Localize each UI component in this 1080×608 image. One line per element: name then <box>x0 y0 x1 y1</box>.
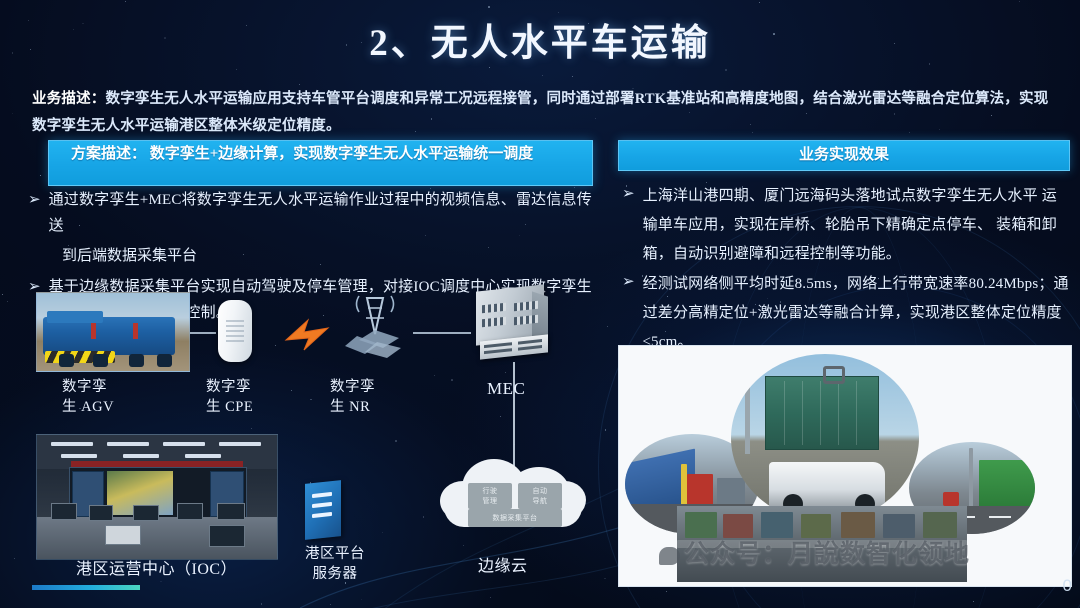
ceiling-light <box>61 454 97 458</box>
agv-wheel <box>157 354 172 367</box>
photo-agv-with-container <box>731 354 919 522</box>
slide-canvas: 2、无人水平车运输 业务描述：数字孪生无人水平运输应用支持车管平台调度和异常工况… <box>0 0 1080 608</box>
bullet-text: 上海洋山港四期、厦门远海码头落地试点数字孪生无人水平 运输单车应用，实现在岸桥、… <box>643 182 1070 268</box>
agv-photo <box>36 292 190 372</box>
yard-truck <box>943 492 959 506</box>
agv-cab <box>47 311 103 323</box>
ioc-keyboard <box>105 525 141 545</box>
cloud-tag-driving-management: 行驶管理 <box>468 483 512 509</box>
left-panel-subline: 到后端数据采集平台 <box>62 244 598 270</box>
server-icon <box>305 482 341 538</box>
crane-leg <box>969 448 973 510</box>
ioc-monitor <box>51 503 77 520</box>
list-item: ➢ 上海洋山港四期、厦门远海码头落地试点数字孪生无人水平 运输单车应用，实现在岸… <box>622 182 1070 268</box>
ioc-monitor <box>89 505 113 521</box>
node-label-cpe: 数字孪 生 CPE <box>206 378 253 417</box>
list-item: ➢ 通过数字孪生+MEC将数字孪生无人水平运输作业过程中的视频信息、雷达信息传送 <box>28 188 598 240</box>
watermark-label: 公众号：月說数智化领地 <box>684 540 970 568</box>
node-label-cloud: 边缘云 <box>478 556 528 578</box>
agv-wheel <box>129 354 144 367</box>
left-panel-banner: 方案描述： 数字孪生+边缘计算，实现数字孪生无人水平运输统一调度 <box>48 140 593 186</box>
node-label-agv-line1: 数字孪 <box>62 378 114 398</box>
ceiling-light <box>107 442 149 446</box>
right-panel-banner: 业务实现效果 <box>618 140 1070 171</box>
node-label-cpe-line1: 数字孪 <box>206 378 253 398</box>
bullet-arrow-icon: ➢ <box>622 182 635 268</box>
nr-tower-icon <box>337 290 413 362</box>
cloud-tag-data-platform: 数据采集平台 <box>468 509 562 527</box>
shipping-container <box>765 376 879 450</box>
node-label-server: 港区平台 服务器 <box>295 545 375 584</box>
wechat-icon <box>659 547 680 565</box>
list-item: ➢ 经测试网络侧平均时延8.5ms，网络上行带宽速率80.24Mbps；通过差分… <box>622 270 1070 356</box>
mec-rack-line <box>518 339 542 345</box>
cloud-tag-auto-navigation: 自动导航 <box>518 483 562 509</box>
bullet-text: 经测试网络侧平均时延8.5ms，网络上行带宽速率80.24Mbps；通过差分高精… <box>643 270 1070 356</box>
node-label-nr-line1: 数字孪 <box>330 378 375 398</box>
node-label-agv-line2: 生 AGV <box>62 398 114 418</box>
green-container <box>979 460 1035 510</box>
node-label-cpe-line2: 生 CPE <box>206 398 253 418</box>
ceiling-light <box>185 454 221 458</box>
business-description-text: 数字孪生无人水平运输应用支持车管平台调度和异常工况远程接管，同时通过部署RTK基… <box>32 91 1048 134</box>
ceiling-light <box>219 442 261 446</box>
agv-wheel <box>93 354 108 367</box>
agv-marker <box>133 323 138 339</box>
page-title: 2、无人水平车运输 <box>0 24 1080 65</box>
node-label-mec: MEC <box>487 378 525 401</box>
node-label-server-line2: 服务器 <box>295 565 375 585</box>
node-label-ioc: 港区运营中心（IOC） <box>76 559 237 581</box>
ioc-monitor <box>209 525 245 547</box>
bullet-arrow-icon: ➢ <box>28 188 41 240</box>
bullet-arrow-icon: ➢ <box>622 270 635 356</box>
page-number: 0 <box>1063 576 1072 596</box>
cpe-icon <box>218 300 252 362</box>
wireless-bolt-icon <box>282 318 332 352</box>
ioc-control-room-photo <box>36 434 278 560</box>
node-label-nr-line2: 生 NR <box>330 398 375 418</box>
node-label-nr: 数字孪 生 NR <box>330 378 375 417</box>
accent-bar-decoration <box>32 585 140 590</box>
mec-rack-line <box>484 342 512 348</box>
edge-cloud-icon: 行驶管理 自动导航 数据采集平台 <box>440 455 586 535</box>
business-description-label: 业务描述： <box>32 91 106 107</box>
right-panel-bullets: ➢ 上海洋山港四期、厦门远海码头落地试点数字孪生无人水平 运输单车应用，实现在岸… <box>622 182 1070 359</box>
ceiling-light <box>123 454 159 458</box>
bullet-text: 通过数字孪生+MEC将数字孪生无人水平运输作业过程中的视频信息、雷达信息传送 <box>49 188 598 240</box>
ceiling-light <box>51 442 93 446</box>
crane-icon <box>745 358 750 454</box>
mec-rack-line <box>484 348 512 354</box>
cpe-vent <box>226 320 244 344</box>
ioc-monitor <box>217 503 245 520</box>
node-label-server-line1: 港区平台 <box>295 545 375 565</box>
node-label-agv: 数字孪 生 AGV <box>62 378 114 417</box>
mec-rack-line <box>518 345 542 351</box>
agv-marker <box>91 323 96 339</box>
ioc-monitor <box>133 505 159 521</box>
link-nr-mec <box>413 332 471 334</box>
container-lock <box>823 366 845 384</box>
mec-building-icon <box>470 280 558 360</box>
agv-wheel <box>59 354 74 367</box>
business-description: 业务描述：数字孪生无人水平运输应用支持车管平台调度和异常工况远程接管，同时通过部… <box>32 86 1052 140</box>
server-body <box>305 480 341 540</box>
link-agv-cpe <box>190 332 216 334</box>
crane-arm <box>739 358 763 364</box>
ioc-monitor <box>177 503 203 520</box>
results-photo-collage: 公众号：月說数智化领地 <box>618 345 1072 587</box>
watermark-text: 公众号：月說数智化领地 <box>659 534 1019 570</box>
ceiling-light <box>163 442 205 446</box>
